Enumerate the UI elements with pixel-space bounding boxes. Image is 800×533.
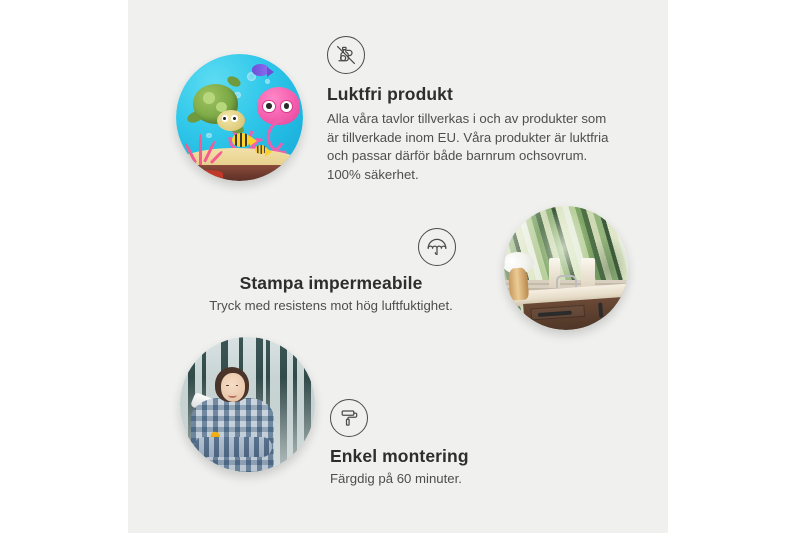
person-smile: [228, 392, 237, 398]
ocean-artwork: [176, 54, 303, 181]
feature-image-waterproof[interactable]: [504, 206, 628, 330]
coral-icon: [184, 130, 222, 166]
turtle-eye: [222, 115, 228, 121]
cabinet-handle: [598, 302, 603, 318]
person-face: [221, 373, 245, 401]
vase: [508, 267, 529, 300]
person-eye: [226, 385, 229, 387]
paint-roller-icon: [330, 399, 368, 437]
feature-block-easy-mounting: Enkel montering Färgdig på 60 minuter.: [330, 399, 610, 489]
yellow-fish-icon: [232, 133, 251, 147]
purple-fish-icon: [252, 64, 269, 75]
screenshot-root: Luktfri produkt Alla våra tavlor tillver…: [0, 0, 800, 533]
feature-title: Enkel montering: [330, 446, 610, 467]
turtle-eye: [231, 115, 237, 121]
feature-description: Färgdig på 60 minuter.: [330, 470, 610, 489]
person-torso: [191, 398, 275, 472]
shipwreck-foreground: [176, 165, 303, 182]
feature-icon-wrap: [200, 228, 462, 273]
octopus-eye: [280, 100, 293, 113]
turtle-head: [217, 110, 245, 132]
small-fish-icon: [255, 145, 268, 154]
feature-image-odourless[interactable]: [176, 54, 303, 181]
no-fragrance-icon: [327, 36, 365, 74]
person-eye: [236, 385, 239, 387]
feature-title: Luktfri produkt: [327, 84, 619, 105]
painter-artwork: [180, 337, 315, 472]
feature-description: Alla våra tavlor tillverkas i och av pro…: [327, 110, 619, 185]
person-arms: [194, 437, 272, 457]
umbrella-icon: [418, 228, 456, 266]
feature-image-easy-mounting[interactable]: [180, 337, 315, 472]
feature-description: Tryck med resistens mot hög luftfuktighe…: [200, 297, 462, 316]
feature-block-odourless: Luktfri produkt Alla våra tavlor tillver…: [327, 36, 619, 185]
bathroom-artwork: [504, 206, 628, 330]
feature-block-waterproof: Stampa impermeabile Tryck med resistens …: [200, 228, 462, 316]
octopus-eye: [262, 100, 275, 113]
feature-title: Stampa impermeabile: [200, 273, 462, 294]
